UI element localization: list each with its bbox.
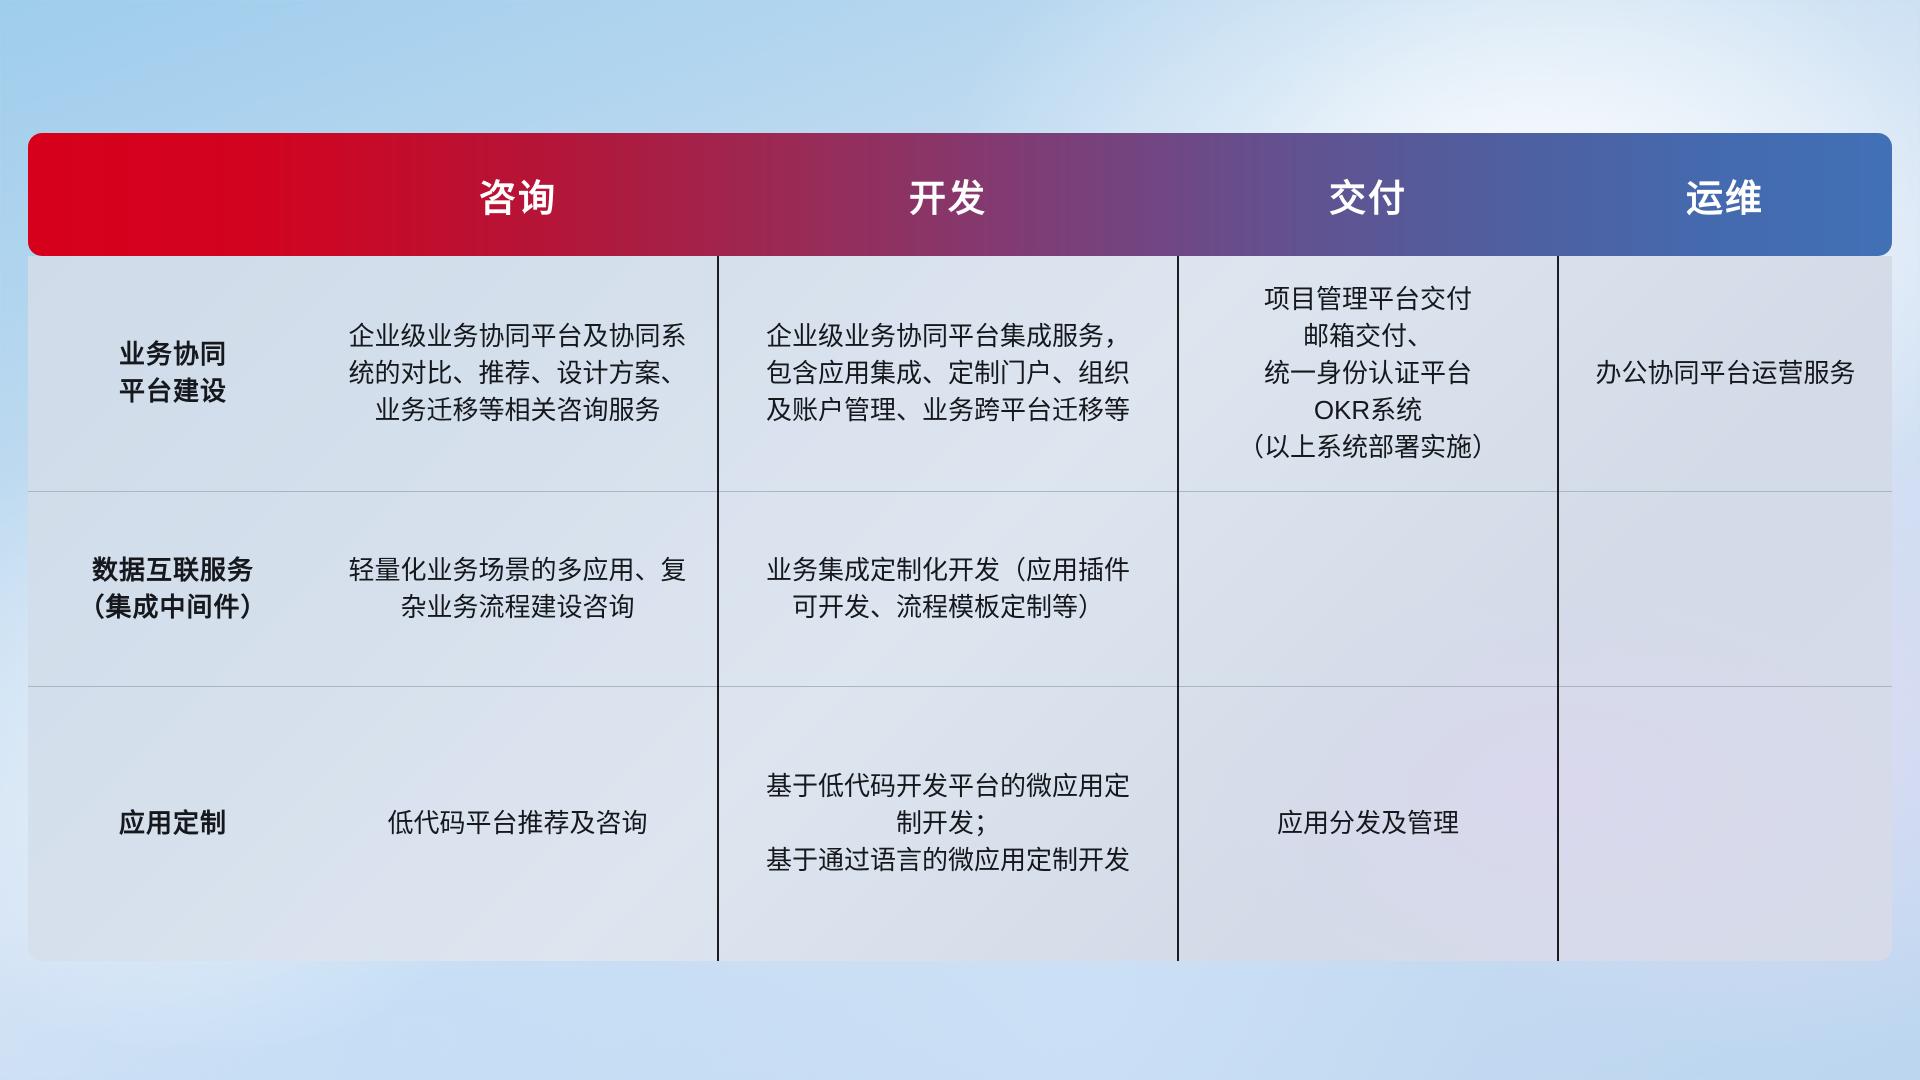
column-header-development-label: 开发 — [909, 178, 987, 219]
table-row: 应用定制 低代码平台推荐及咨询 基于低代码开发平台的微应用定 制开发； 基于通过… — [28, 686, 1892, 961]
cell-delivery — [1178, 491, 1558, 686]
cell-consulting: 低代码平台推荐及咨询 — [318, 686, 718, 961]
table-row: 业务协同 平台建设 企业级业务协同平台及协同系 统的对比、推荐、设计方案、 业务… — [28, 256, 1892, 491]
cell-delivery: 项目管理平台交付 邮箱交付、 统一身份认证平台 OKR系统 （以上系统部署实施） — [1178, 256, 1558, 491]
column-header-delivery: 交付 — [1178, 133, 1558, 256]
service-matrix-table: 服务类别 咨询 开发 交付 运维 业务协同 平台建设 企业级业务协同平台及 — [28, 133, 1892, 961]
column-header-consulting-label: 咨询 — [479, 178, 557, 219]
cell-development: 基于低代码开发平台的微应用定 制开发； 基于通过语言的微应用定制开发 — [718, 686, 1178, 961]
column-header-consulting: 咨询 — [318, 133, 718, 256]
cell-consulting: 企业级业务协同平台及协同系 统的对比、推荐、设计方案、 业务迁移等相关咨询服务 — [318, 256, 718, 491]
cell-operations — [1558, 491, 1892, 686]
row-category-label: 业务协同 平台建设 — [28, 256, 318, 491]
table-header-row: 服务类别 咨询 开发 交付 运维 — [28, 133, 1892, 256]
cell-delivery: 应用分发及管理 — [1178, 686, 1558, 961]
row-category-label: 数据互联服务 （集成中间件） — [28, 491, 318, 686]
cell-operations — [1558, 686, 1892, 961]
row-category-label: 应用定制 — [28, 686, 318, 961]
table-row: 数据互联服务 （集成中间件） 轻量化业务场景的多应用、复 杂业务流程建设咨询 业… — [28, 491, 1892, 686]
service-matrix-table-wrapper: 服务类别 咨询 开发 交付 运维 业务协同 平台建设 企业级业务协同平台及 — [28, 133, 1892, 961]
cell-consulting: 轻量化业务场景的多应用、复 杂业务流程建设咨询 — [318, 491, 718, 686]
cell-development: 企业级业务协同平台集成服务， 包含应用集成、定制门户、组织 及账户管理、业务跨平… — [718, 256, 1178, 491]
table-header: 服务类别 咨询 开发 交付 运维 — [28, 133, 1892, 256]
cell-operations: 办公协同平台运营服务 — [1558, 256, 1892, 491]
column-header-delivery-label: 交付 — [1329, 178, 1407, 219]
column-header-category: 服务类别 — [28, 133, 318, 256]
table-body: 业务协同 平台建设 企业级业务协同平台及协同系 统的对比、推荐、设计方案、 业务… — [28, 256, 1892, 961]
cell-development: 业务集成定制化开发（应用插件 可开发、流程模板定制等） — [718, 491, 1178, 686]
column-header-operations-label: 运维 — [1686, 178, 1764, 219]
column-header-development: 开发 — [718, 133, 1178, 256]
column-header-operations: 运维 — [1558, 133, 1892, 256]
